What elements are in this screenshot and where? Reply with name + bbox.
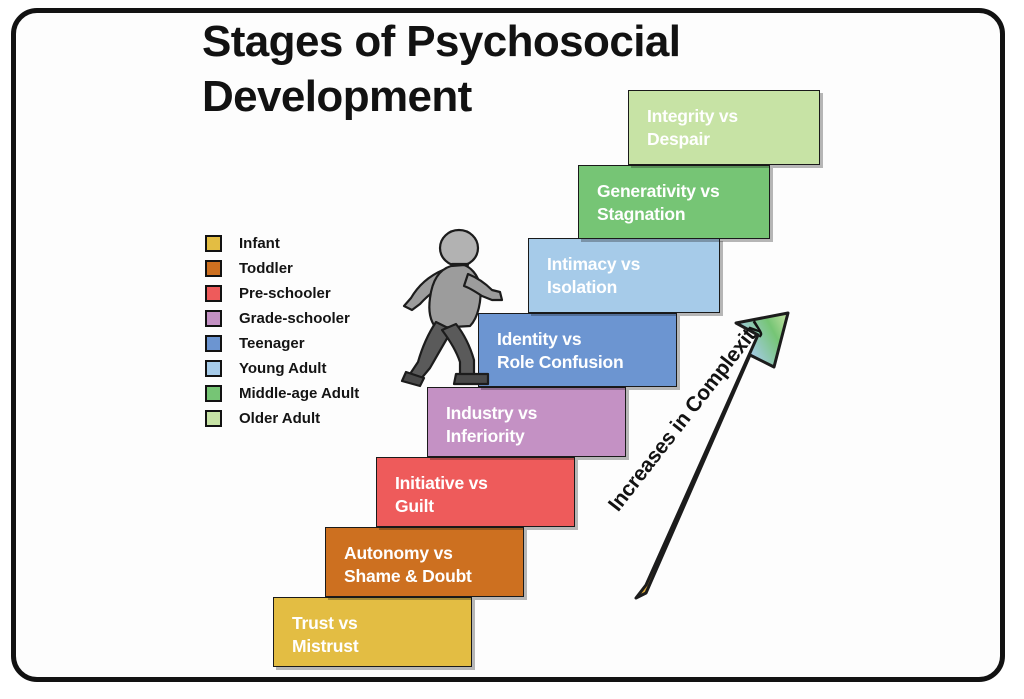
stage-line-1: Integrity vs: [647, 105, 819, 128]
stage-block-autonomy-vs-shame-doubt: Autonomy vs Shame & Doubt: [325, 527, 524, 597]
legend-swatch-teenager: [205, 335, 222, 352]
legend-item-young-adult: Young Adult: [205, 356, 420, 381]
legend-swatch-middle-age-adult: [205, 385, 222, 402]
stage-block-integrity-vs-despair: Integrity vs Despair: [628, 90, 820, 165]
stage-line-2: Stagnation: [597, 203, 769, 226]
increases-in-complexity-arrow-icon: [600, 295, 810, 605]
legend-label-infant: Infant: [239, 235, 280, 252]
legend: Infant Toddler Pre-schooler Grade-school…: [205, 231, 420, 431]
stage-block-generativity-vs-stagnation: Generativity vs Stagnation: [578, 165, 770, 239]
legend-label-pre-schooler: Pre-schooler: [239, 285, 331, 302]
legend-item-middle-age-adult: Middle-age Adult: [205, 381, 420, 406]
legend-swatch-young-adult: [205, 360, 222, 377]
legend-label-teenager: Teenager: [239, 335, 305, 352]
legend-item-pre-schooler: Pre-schooler: [205, 281, 420, 306]
legend-swatch-infant: [205, 235, 222, 252]
person-climbing-icon: [396, 226, 520, 392]
stage-line-2: Mistrust: [292, 635, 471, 658]
stage-block-industry-vs-inferiority: Industry vs Inferiority: [427, 387, 626, 457]
legend-item-teenager: Teenager: [205, 331, 420, 356]
legend-label-middle-age-adult: Middle-age Adult: [239, 385, 359, 402]
stage-line-1: Generativity vs: [597, 180, 769, 203]
stage-line-1: Trust vs: [292, 612, 471, 635]
legend-label-young-adult: Young Adult: [239, 360, 326, 377]
legend-item-toddler: Toddler: [205, 256, 420, 281]
stage-line-1: Autonomy vs: [344, 542, 523, 565]
stage-line-2: Despair: [647, 128, 819, 151]
legend-swatch-grade-schooler: [205, 310, 222, 327]
legend-item-older-adult: Older Adult: [205, 406, 420, 431]
legend-swatch-older-adult: [205, 410, 222, 427]
legend-label-older-adult: Older Adult: [239, 410, 320, 427]
stage-block-trust-vs-mistrust: Trust vs Mistrust: [273, 597, 472, 667]
stage-line-1: Initiative vs: [395, 472, 574, 495]
legend-item-grade-schooler: Grade-schooler: [205, 306, 420, 331]
stage-line-2: Guilt: [395, 495, 574, 518]
legend-label-toddler: Toddler: [239, 260, 293, 277]
legend-item-infant: Infant: [205, 231, 420, 256]
stage-line-2: Inferiority: [446, 425, 625, 448]
infographic-poster: Stages of Psychosocial Development Infan…: [0, 0, 1024, 699]
stage-line-1: Intimacy vs: [547, 253, 719, 276]
legend-swatch-toddler: [205, 260, 222, 277]
legend-swatch-pre-schooler: [205, 285, 222, 302]
stage-line-2: Shame & Doubt: [344, 565, 523, 588]
legend-label-grade-schooler: Grade-schooler: [239, 310, 350, 327]
stage-block-initiative-vs-guilt: Initiative vs Guilt: [376, 457, 575, 527]
stage-line-1: Industry vs: [446, 402, 625, 425]
